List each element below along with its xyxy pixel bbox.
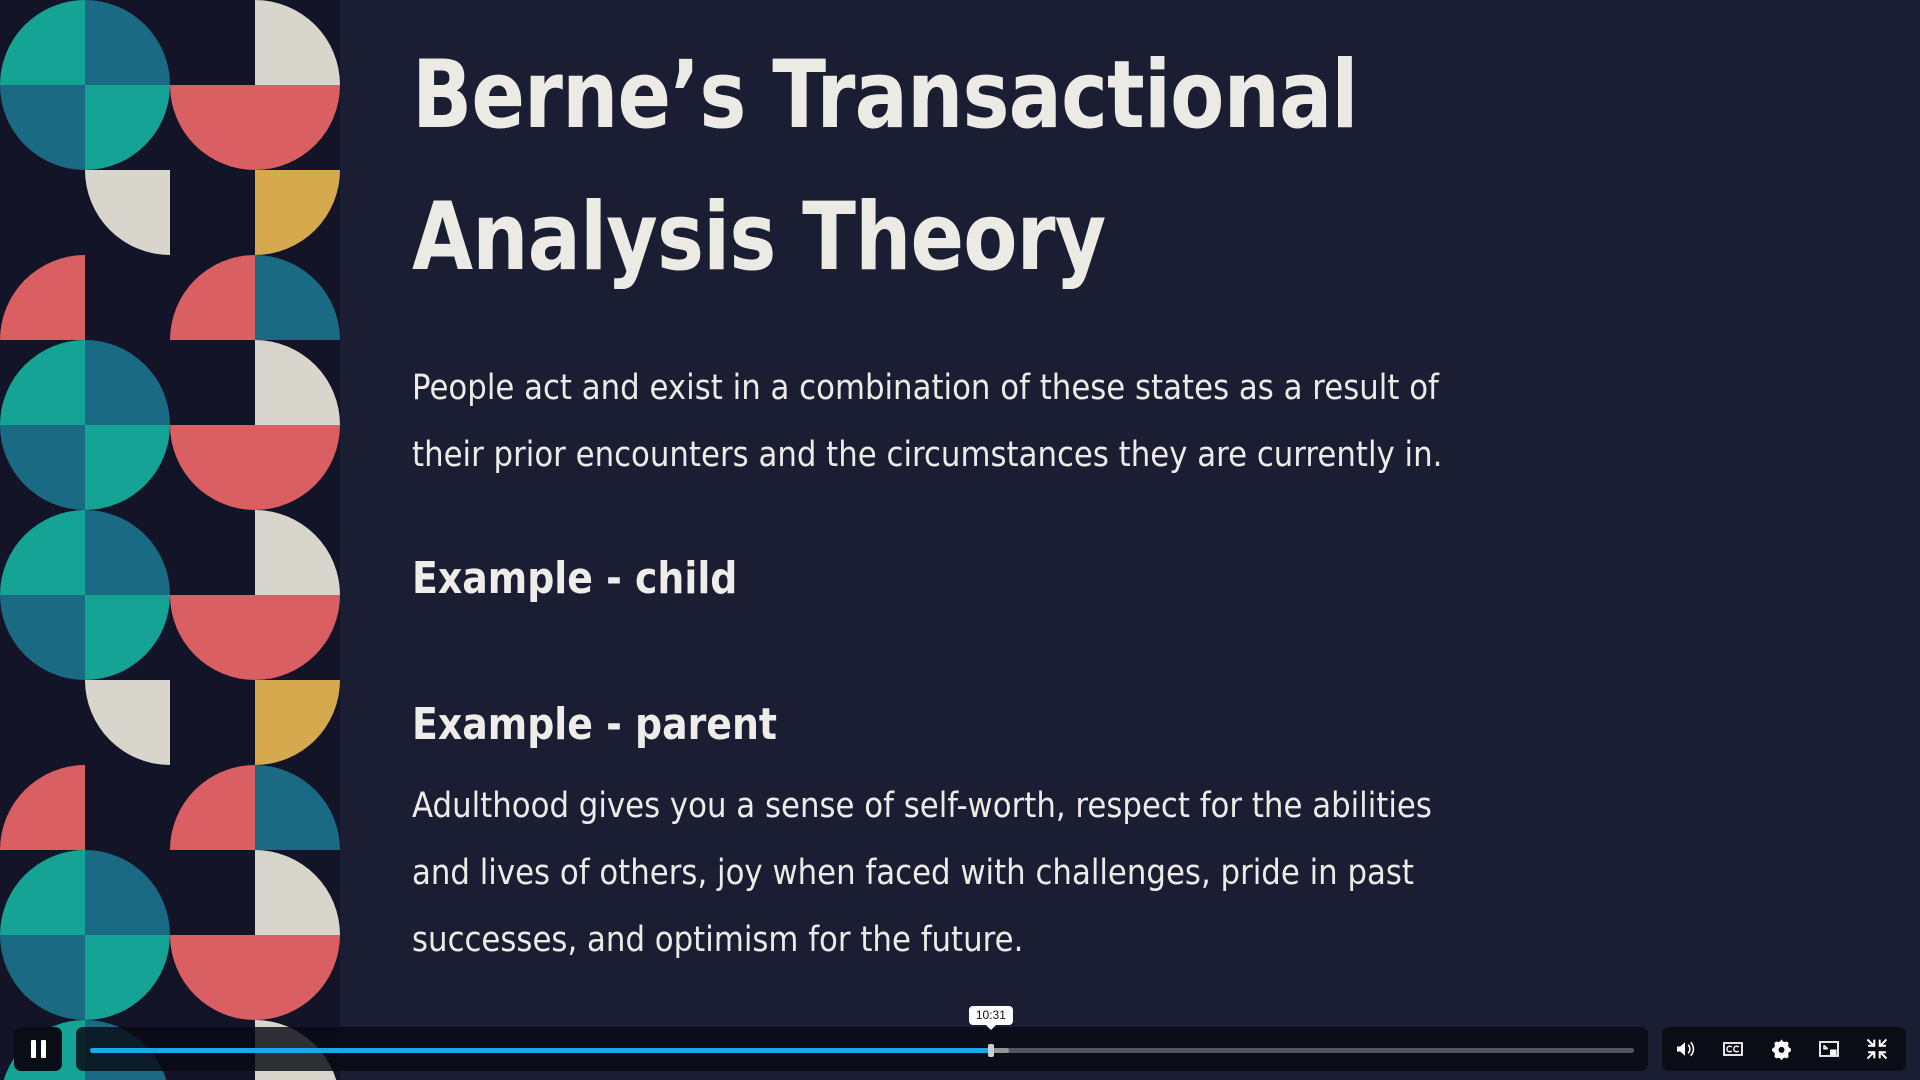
- pattern-svg: [0, 0, 340, 1080]
- pause-icon-bar-right: [41, 1040, 46, 1058]
- parent-paragraph: Adulthood gives you a sense of self-wort…: [412, 773, 1820, 974]
- pause-button[interactable]: [14, 1027, 62, 1071]
- picture-in-picture-icon[interactable]: [1816, 1036, 1842, 1062]
- parent-line-1: Adulthood gives you a sense of self-wort…: [412, 773, 1820, 840]
- heading-example-parent: Example - parent: [412, 697, 777, 753]
- video-player-stage: Berne’s Transactional Analysis Theory Pe…: [0, 0, 1920, 1080]
- gear-icon[interactable]: [1768, 1036, 1794, 1062]
- intro-paragraph: People act and exist in a combination of…: [412, 355, 1820, 489]
- page-title: Berne’s Transactional Analysis Theory: [412, 25, 1613, 309]
- slide-content: Berne’s Transactional Analysis Theory Pe…: [412, 0, 1842, 1080]
- volume-high-icon[interactable]: [1672, 1036, 1698, 1062]
- seek-handle[interactable]: [988, 1044, 994, 1057]
- seek-track[interactable]: [90, 1048, 1634, 1053]
- closed-captions-icon[interactable]: [1720, 1036, 1746, 1062]
- parent-line-2: and lives of others, joy when faced with…: [412, 840, 1820, 907]
- intro-line-1: People act and exist in a combination of…: [412, 355, 1820, 422]
- played-range: [90, 1048, 989, 1053]
- seek-bar[interactable]: 10:31: [76, 1027, 1648, 1071]
- player-right-controls: [1662, 1027, 1906, 1071]
- exit-fullscreen-icon[interactable]: [1864, 1036, 1890, 1062]
- pause-icon-bar-left: [31, 1040, 36, 1058]
- intro-line-2: their prior encounters and the circumsta…: [412, 422, 1820, 489]
- heading-example-child: Example - child: [412, 551, 737, 607]
- player-control-bar: 10:31: [0, 1018, 1920, 1080]
- title-line-2: Analysis Theory: [412, 167, 1613, 309]
- title-line-1: Berne’s Transactional: [412, 25, 1613, 167]
- decorative-geometric-pattern: [0, 0, 340, 1080]
- parent-line-3: successes, and optimism for the future.: [412, 907, 1820, 974]
